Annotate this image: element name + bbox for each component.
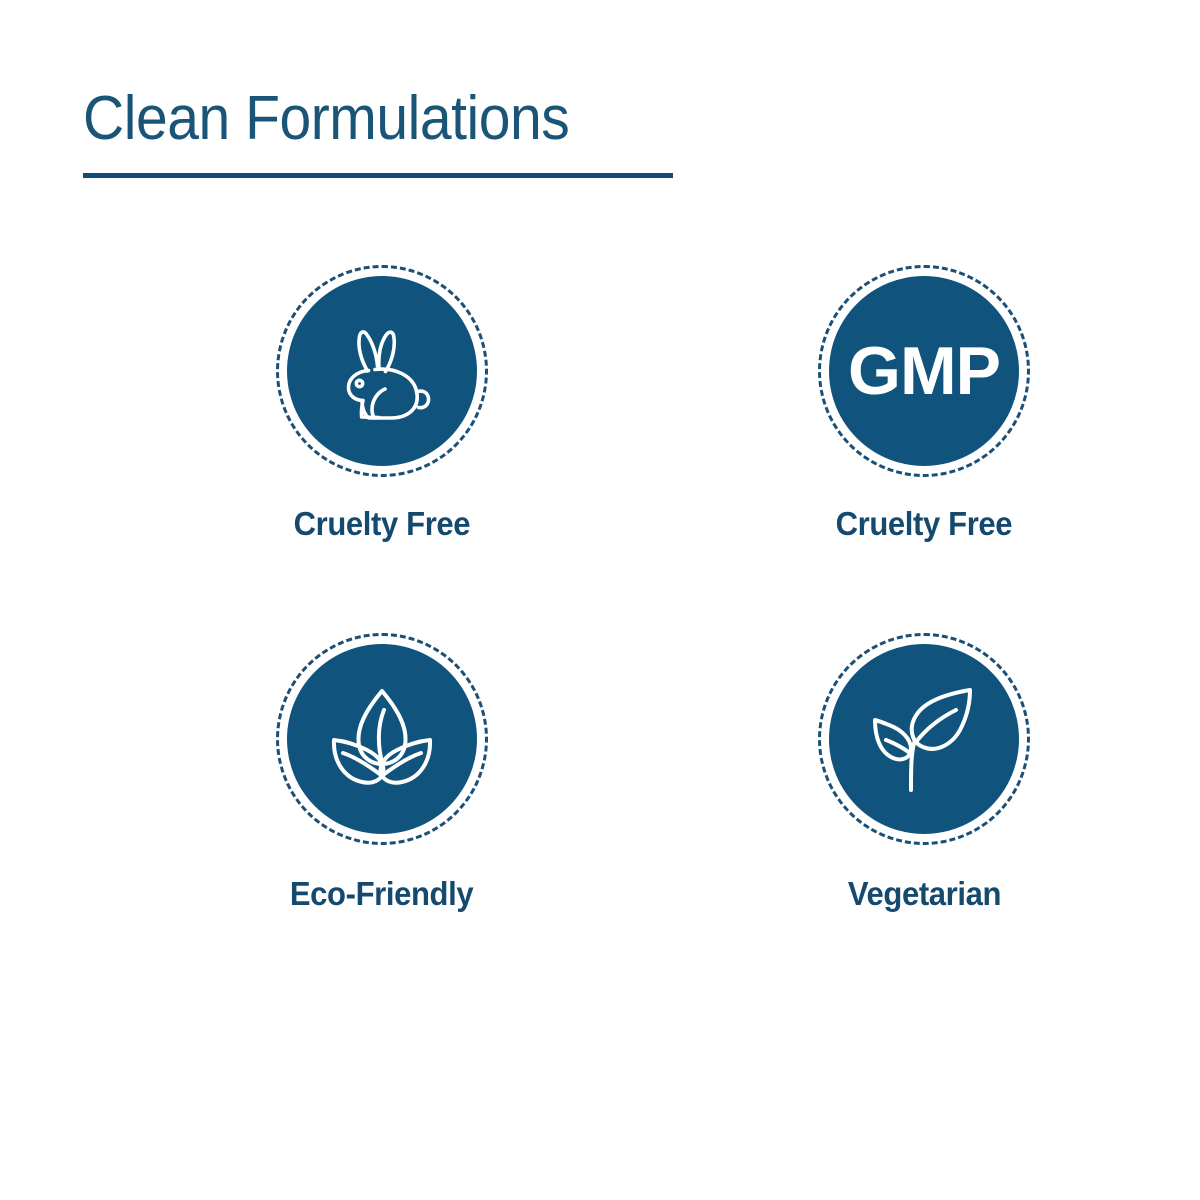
badge-grid: Cruelty Free GMP Cruelty Free <box>0 265 1200 1001</box>
page-header: Clean Formulations <box>83 84 683 154</box>
three-leaf-icon <box>322 683 442 795</box>
badge-label: Cruelty Free <box>836 505 1013 543</box>
badge-dashed-ring: GMP <box>818 265 1030 477</box>
badge-label: Cruelty Free <box>294 505 471 543</box>
title-underline-divider <box>83 173 673 178</box>
badge-dashed-ring <box>276 265 488 477</box>
badge-dashed-ring <box>276 633 488 845</box>
page-title: Clean Formulations <box>83 84 635 154</box>
badge-eco-friendly[interactable]: Eco-Friendly <box>0 633 604 1001</box>
badge-disc <box>287 644 477 834</box>
badge-label: Vegetarian <box>847 875 1000 913</box>
badge-disc <box>829 644 1019 834</box>
badge-dashed-ring <box>818 633 1030 845</box>
badge-gmp[interactable]: GMP Cruelty Free <box>604 265 1200 633</box>
badge-label: Eco-Friendly <box>290 875 473 913</box>
badge-disc <box>287 276 477 466</box>
badge-vegetarian[interactable]: Vegetarian <box>604 633 1200 1001</box>
badge-cruelty-free-rabbit[interactable]: Cruelty Free <box>0 265 604 633</box>
rabbit-icon <box>323 316 441 426</box>
badge-disc: GMP <box>829 276 1019 466</box>
gmp-text-icon: GMP <box>848 337 1000 405</box>
sprout-icon <box>864 680 984 798</box>
